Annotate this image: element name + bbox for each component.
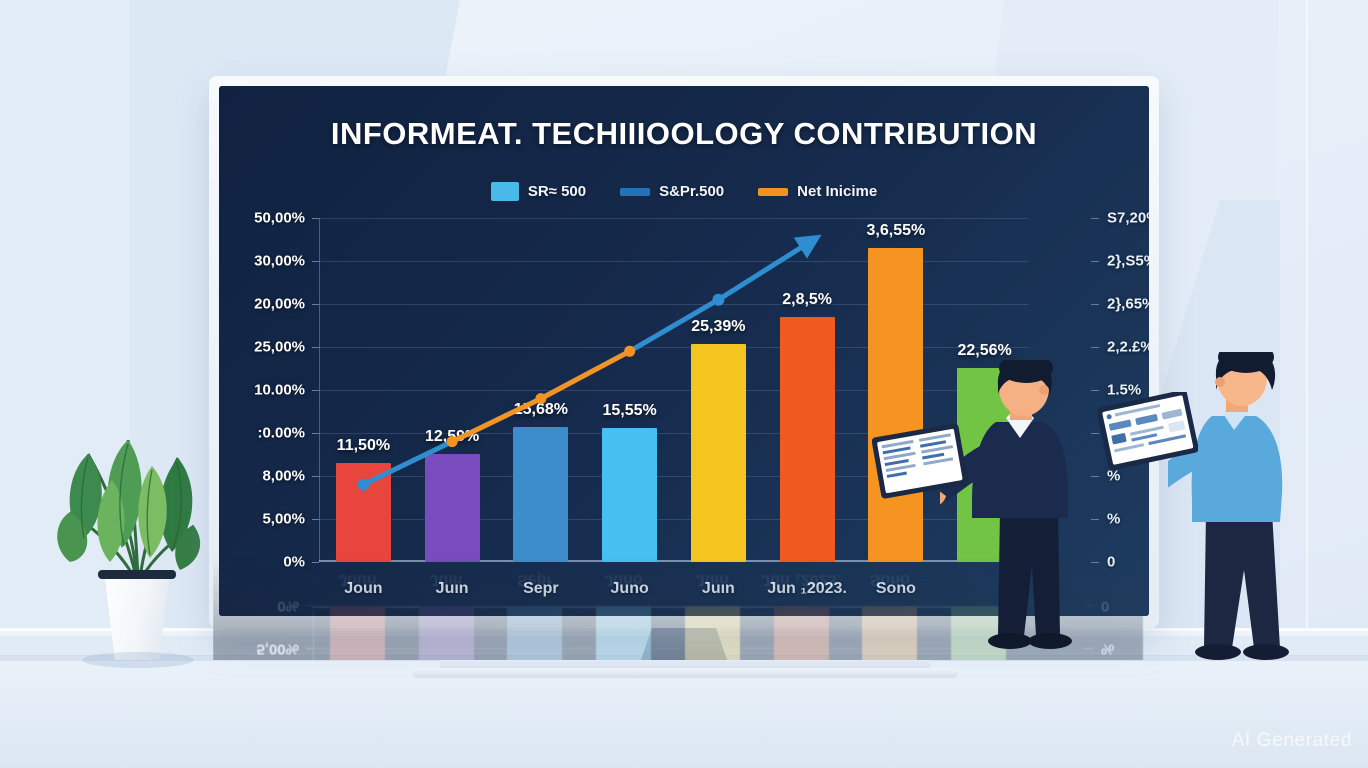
legend-swatch-line-icon: [758, 188, 788, 196]
tablet-right[interactable]: [1098, 392, 1198, 470]
line-data-point[interactable]: [357, 479, 369, 491]
y-axis-label-left: 10.00%: [254, 382, 305, 399]
y-tick-mark: [312, 562, 319, 563]
x-axis-label: Sono: [876, 580, 916, 598]
potted-plant: [48, 362, 208, 662]
y-tick-mark: [312, 347, 319, 348]
y-axis-label-left: 25,00%: [254, 339, 305, 356]
trend-line-sp500: [363, 244, 807, 485]
x-axis-label: Juın: [702, 580, 735, 598]
y-axis-label-right: 2,2.£%: [1107, 339, 1149, 356]
legend-label-1: S&Pr.500: [659, 183, 724, 200]
y-axis-label-right: 2},S5%: [1107, 253, 1149, 270]
y-axis-label-left: 20,00%: [254, 296, 305, 313]
legend-item-1[interactable]: S&Pr.500: [620, 183, 724, 200]
legend-item-2[interactable]: Net Inicime: [758, 183, 877, 200]
chart-title: INFORMEAT. TECHIIIOOLOGY CONTRIBUTION: [219, 116, 1149, 152]
line-data-point[interactable]: [624, 346, 635, 357]
y-tick-mark: [312, 304, 319, 305]
line-data-point[interactable]: [801, 238, 813, 250]
legend-label-2: Net Inicime: [797, 183, 877, 200]
y-tick-mark-right: [1091, 261, 1099, 262]
y-axis-label-left: :0.00%: [257, 425, 305, 442]
y-tick-mark-right: [1091, 347, 1099, 348]
legend-swatch-box-icon: [491, 182, 519, 201]
y-axis-label-left: 0%: [283, 554, 305, 571]
y-tick-mark: [312, 476, 319, 477]
plant-shadow: [82, 652, 194, 668]
x-axis-label: Joun: [344, 580, 382, 598]
ai-watermark: AI Generated: [1232, 730, 1352, 752]
tablet-left[interactable]: [872, 424, 968, 500]
y-tick-mark: [312, 261, 319, 262]
y-axis-label-right: S7,20%: [1107, 210, 1149, 227]
line-data-point[interactable]: [535, 393, 546, 404]
chart-plot-area: 50,00%S7,20%30,00%2},S5%20,00%2},65%25,0…: [319, 218, 1029, 562]
y-tick-mark: [312, 218, 319, 219]
y-axis-label-left: 50,00%: [254, 210, 305, 227]
x-axis-label: Sepr: [523, 580, 559, 598]
x-axis-label: Juno: [611, 580, 649, 598]
legend-label-0: SR≈ 500: [528, 183, 586, 200]
legend-item-0[interactable]: SR≈ 500: [491, 182, 586, 201]
y-axis-label-left: 5,00%: [262, 511, 305, 528]
line-data-point[interactable]: [447, 436, 458, 447]
y-tick-mark: [312, 390, 319, 391]
x-axis-label: Jun ₁2023.: [767, 580, 847, 598]
y-axis-label-left: 30,00%: [254, 253, 305, 270]
line-data-point[interactable]: [712, 294, 724, 306]
legend-swatch-line-icon: [620, 188, 650, 196]
y-tick-mark: [312, 433, 319, 434]
x-axis-label: Juın: [436, 580, 469, 598]
chart-legend: SR≈ 500 S&Pr.500 Net Inicime: [219, 182, 1149, 201]
y-axis-label-right: 2},65%: [1107, 296, 1149, 313]
y-tick-mark-right: [1091, 304, 1099, 305]
chart-line-series: [319, 218, 1029, 562]
scene: INFORMEAT. TECHIIIOOLOGY CONTRIBUTION SR…: [0, 0, 1368, 768]
monitor-stand-foot: [412, 668, 958, 678]
y-tick-mark-right: [1091, 218, 1099, 219]
plant-pot-rim: [98, 570, 176, 579]
y-tick-mark: [312, 519, 319, 520]
y-axis-label-left: 8,00%: [262, 468, 305, 485]
